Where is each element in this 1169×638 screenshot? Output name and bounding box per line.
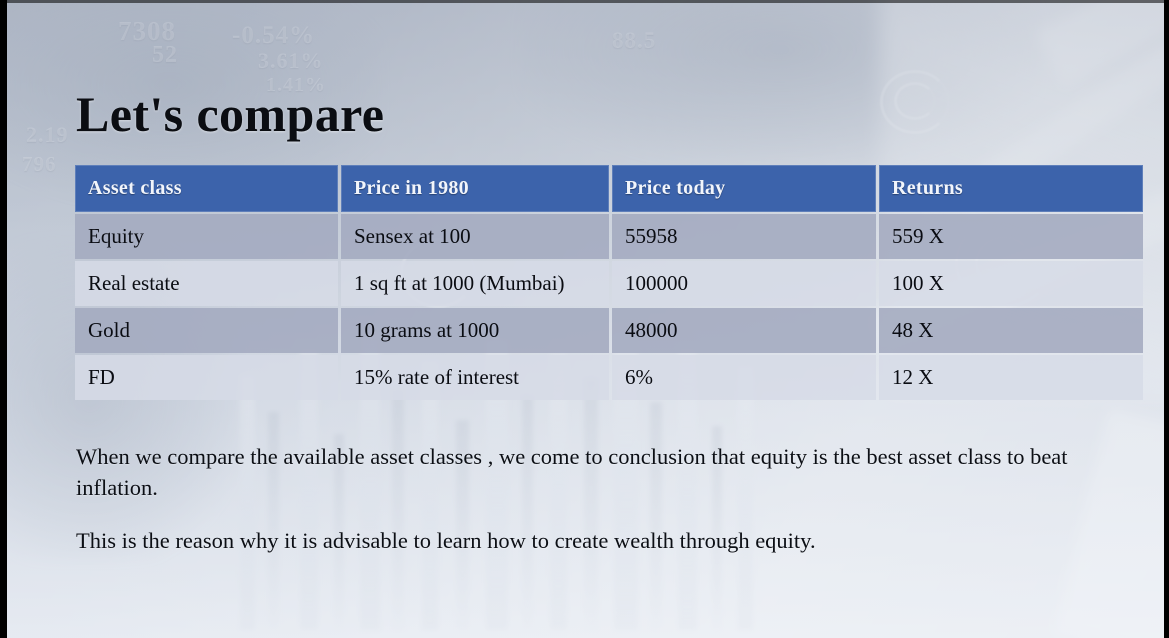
page-title: Let's compare — [76, 88, 384, 141]
cell-returns: 559 X — [879, 214, 1143, 259]
table-header-row: Asset class Price in 1980 Price today Re… — [75, 165, 1143, 212]
column-header-price-today: Price today — [612, 165, 876, 212]
recommendation-paragraph: This is the reason why it is advisable t… — [76, 525, 1076, 556]
body-copy: When we compare the available asset clas… — [76, 441, 1076, 556]
video-crop-bar-top — [0, 0, 1169, 3]
cell-asset-class: Real estate — [75, 261, 338, 306]
cell-asset-class: Gold — [75, 308, 338, 353]
slide-content: Let's compare Asset class Price in 1980 … — [0, 0, 1169, 638]
table-header: Asset class Price in 1980 Price today Re… — [75, 165, 1143, 212]
cell-price-today: 6% — [612, 355, 876, 400]
cell-price-1980: 15% rate of interest — [341, 355, 609, 400]
cell-returns: 12 X — [879, 355, 1143, 400]
presentation-slide: 7308 -0.54% 3.61% 52 1.41% 2.19 796 88.5… — [0, 0, 1169, 638]
column-header-price-1980: Price in 1980 — [341, 165, 609, 212]
cell-returns: 100 X — [879, 261, 1143, 306]
cell-asset-class: Equity — [75, 214, 338, 259]
video-crop-bar-left — [0, 0, 7, 638]
table-row: Gold 10 grams at 1000 48000 48 X — [75, 308, 1143, 353]
column-header-returns: Returns — [879, 165, 1143, 212]
cell-price-1980: 10 grams at 1000 — [341, 308, 609, 353]
cell-price-today: 55958 — [612, 214, 876, 259]
video-crop-bar-right — [1164, 0, 1169, 638]
cell-price-today: 48000 — [612, 308, 876, 353]
table-row: Real estate 1 sq ft at 1000 (Mumbai) 100… — [75, 261, 1143, 306]
cell-price-today: 100000 — [612, 261, 876, 306]
cell-price-1980: 1 sq ft at 1000 (Mumbai) — [341, 261, 609, 306]
table-row: FD 15% rate of interest 6% 12 X — [75, 355, 1143, 400]
conclusion-paragraph: When we compare the available asset clas… — [76, 441, 1076, 503]
asset-comparison-table: Asset class Price in 1980 Price today Re… — [72, 163, 1146, 402]
table-row: Equity Sensex at 100 55958 559 X — [75, 214, 1143, 259]
cell-returns: 48 X — [879, 308, 1143, 353]
column-header-asset-class: Asset class — [75, 165, 338, 212]
cell-price-1980: Sensex at 100 — [341, 214, 609, 259]
table-body: Equity Sensex at 100 55958 559 X Real es… — [75, 214, 1143, 400]
cell-asset-class: FD — [75, 355, 338, 400]
